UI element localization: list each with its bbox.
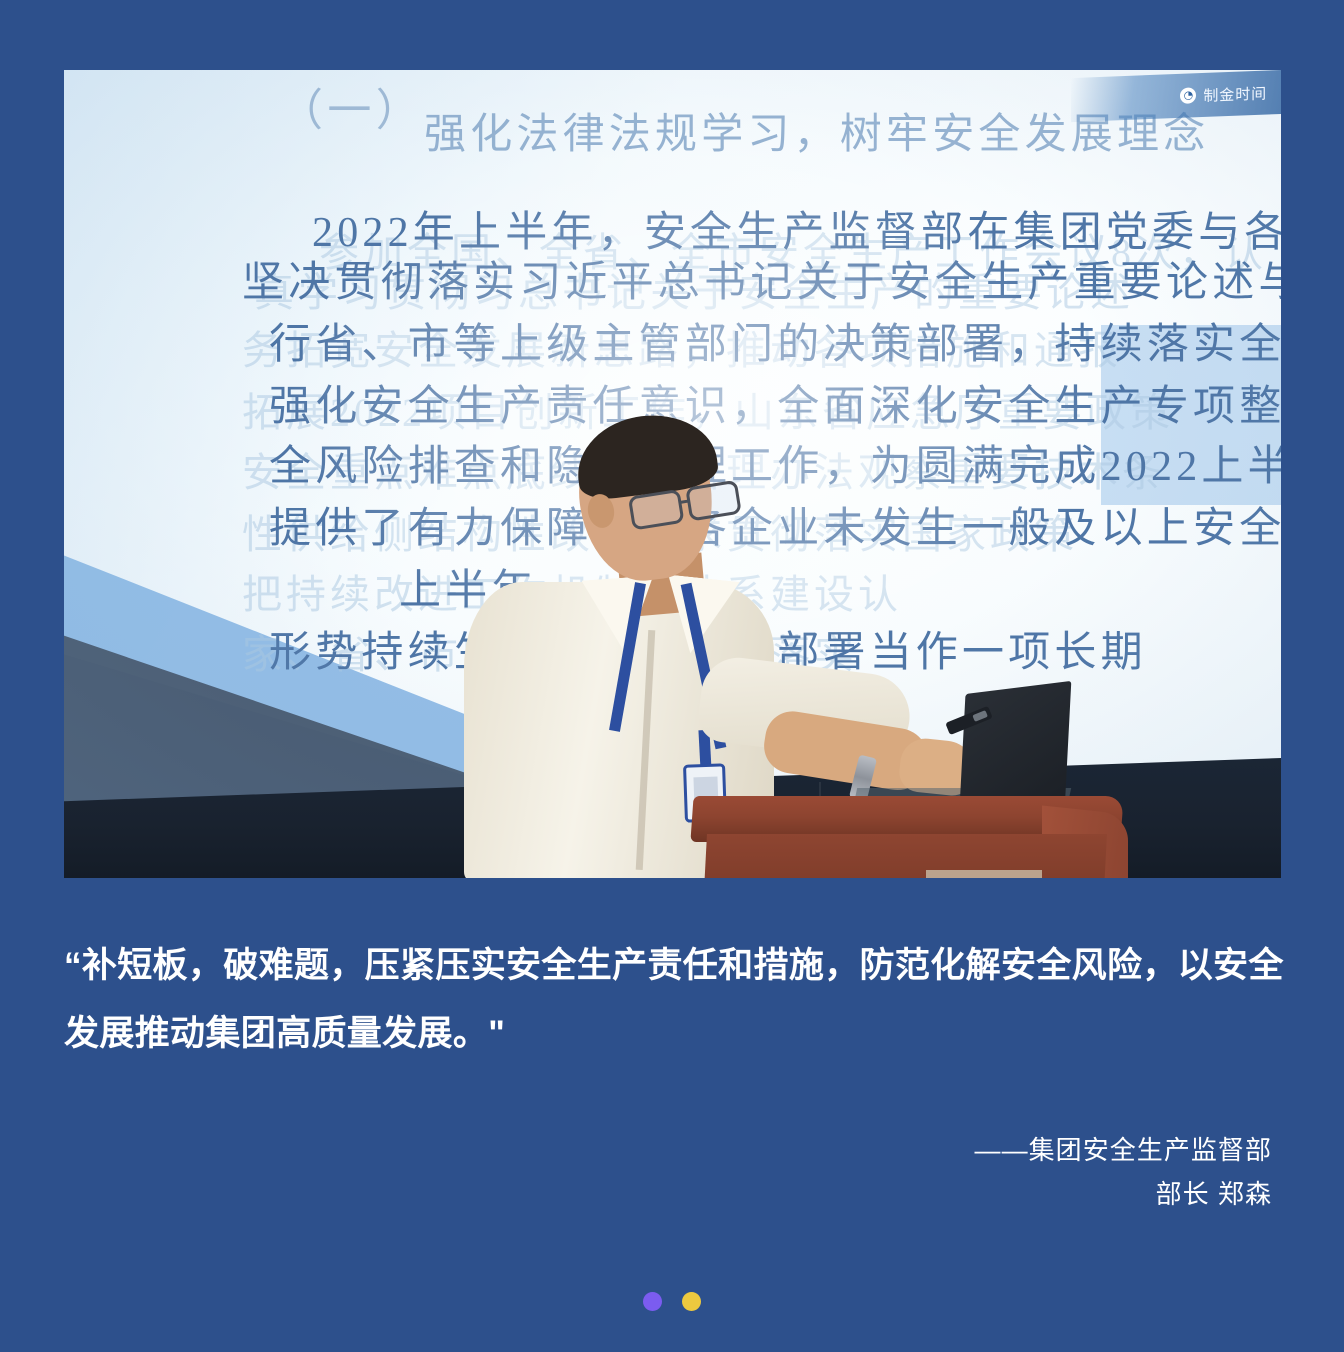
carousel-pager[interactable] <box>0 1292 1344 1311</box>
speaker-figure <box>64 70 1281 878</box>
carousel-dot-2[interactable] <box>682 1292 701 1311</box>
quote-attribution: ——集团安全生产监督部 部长 郑森 <box>975 1128 1272 1216</box>
attribution-organization: ——集团安全生产监督部 <box>975 1128 1272 1172</box>
attribution-person: 部长 郑森 <box>975 1172 1272 1216</box>
podium-front-panel <box>701 834 1107 878</box>
speaker-photo: 参加全国、全省、全市安全生产工作会议8次，认 真学习贯彻习总书记关于安全生产的重… <box>64 70 1281 878</box>
podium-base <box>926 870 1042 878</box>
pull-quote-text: “补短板，破难题，压紧压实安全生产责任和措施，防范化解安全风险，以安全发展推动集… <box>64 932 1304 1068</box>
pull-quote: “补短板，破难题，压紧压实安全生产责任和措施，防范化解安全风险，以安全发展推动集… <box>64 932 1304 1068</box>
glasses-lens-right <box>685 480 742 522</box>
carousel-dot-1[interactable] <box>643 1292 662 1311</box>
glasses-lens-left <box>628 489 685 531</box>
